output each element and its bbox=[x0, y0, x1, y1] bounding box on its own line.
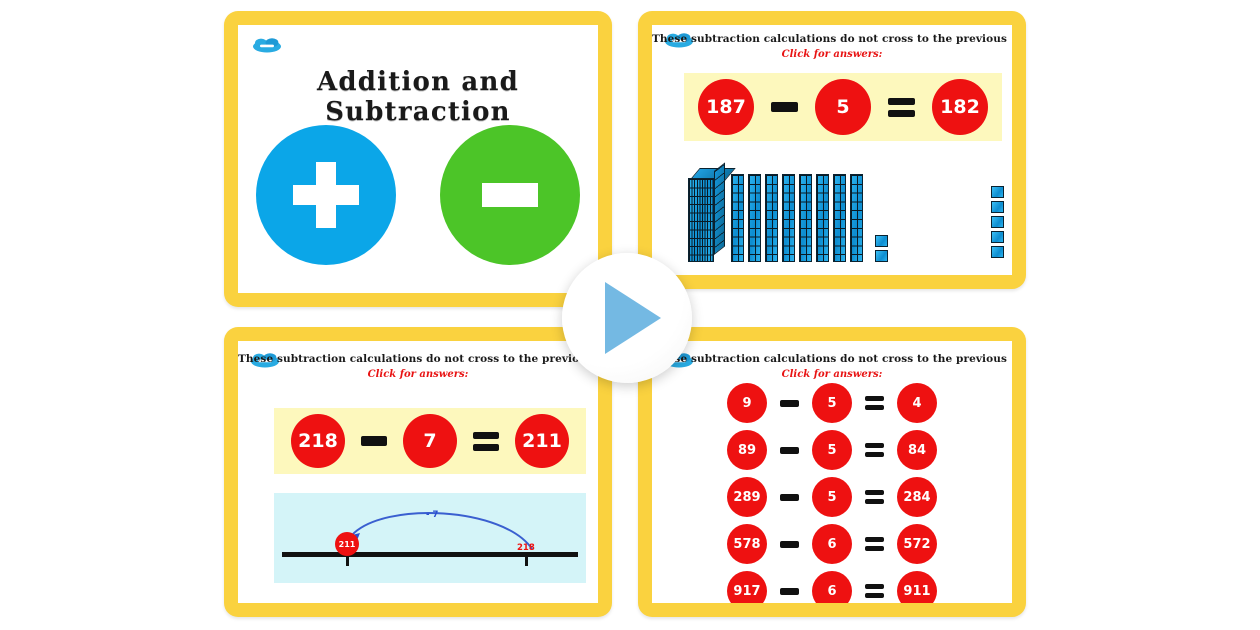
result-bubble: 284 bbox=[897, 477, 937, 517]
calculations-list: 9 5 4 89 5 84 289 5 bbox=[710, 383, 954, 603]
operation-icons-row bbox=[238, 125, 598, 265]
minus-sign-icon bbox=[780, 588, 799, 595]
base-ten-blocks-area bbox=[682, 150, 1012, 262]
minuend-bubble: 9 bbox=[727, 383, 767, 423]
minuend-bubble: 187 bbox=[698, 79, 754, 135]
slide-heading: These subtraction calculations do not cr… bbox=[238, 353, 598, 365]
number-line-panel: - 7 211 218 bbox=[274, 493, 586, 583]
result-bubble: 911 bbox=[897, 571, 937, 603]
jump-arrow-icon bbox=[274, 493, 586, 583]
subtrahend-bubble: 5 bbox=[812, 477, 852, 517]
result-bubble: 84 bbox=[897, 430, 937, 470]
base-ten-subtrahend-group bbox=[983, 186, 1004, 258]
plus-icon bbox=[293, 162, 359, 228]
tens-rod-block bbox=[748, 174, 761, 262]
play-button[interactable] bbox=[562, 253, 692, 383]
number-line-tick bbox=[346, 557, 349, 566]
equation-strip: 187 5 182 bbox=[684, 73, 1002, 141]
calculation-row: 917 6 911 bbox=[710, 571, 954, 603]
slide-subheading: Click for answers: bbox=[652, 49, 1012, 60]
subtraction-circle[interactable] bbox=[440, 125, 580, 265]
minus-sign-icon bbox=[780, 447, 799, 454]
minus-sign-icon bbox=[780, 400, 799, 407]
slide-thumbnail-number-line[interactable]: These subtraction calculations do not cr… bbox=[224, 327, 612, 617]
equals-sign-icon bbox=[865, 396, 884, 410]
one-cube-block bbox=[875, 235, 888, 247]
subtrahend-bubble: 6 bbox=[812, 571, 852, 603]
calculation-row: 289 5 284 bbox=[710, 477, 954, 517]
result-bubble: 182 bbox=[932, 79, 988, 135]
equals-sign-icon bbox=[888, 98, 915, 117]
minus-icon bbox=[482, 183, 538, 207]
equals-sign-icon bbox=[865, 443, 884, 457]
result-bubble: 4 bbox=[897, 383, 937, 423]
equals-sign-icon bbox=[473, 432, 499, 451]
tens-rod-block bbox=[782, 174, 795, 262]
minuend-bubble: 289 bbox=[727, 477, 767, 517]
equals-sign-icon bbox=[865, 584, 884, 598]
tens-rod-block bbox=[799, 174, 812, 262]
one-cube-block bbox=[991, 216, 1004, 228]
one-cube-block bbox=[991, 231, 1004, 243]
ones-cubes-group bbox=[991, 186, 1004, 258]
equals-sign-icon bbox=[865, 490, 884, 504]
subtrahend-bubble: 5 bbox=[812, 430, 852, 470]
preview-stage: Addition and Subtraction bbox=[0, 0, 1260, 630]
one-cube-block bbox=[991, 201, 1004, 213]
calculation-row: 89 5 84 bbox=[710, 430, 954, 470]
subtrahend-bubble: 7 bbox=[403, 414, 457, 468]
tens-rod-block bbox=[850, 174, 863, 262]
slide-thumbnail-title[interactable]: Addition and Subtraction bbox=[224, 11, 612, 307]
equation-strip: 218 7 211 bbox=[274, 408, 586, 474]
slide-canvas: Addition and Subtraction bbox=[238, 25, 598, 293]
minuend-bubble: 218 bbox=[291, 414, 345, 468]
calculation-row: 9 5 4 bbox=[710, 383, 954, 423]
slide-heading-block: These subtraction calculations do not cr… bbox=[652, 353, 1012, 380]
slide-heading-block: These subtraction calculations do not cr… bbox=[238, 353, 598, 380]
subtrahend-bubble: 5 bbox=[812, 383, 852, 423]
ones-cubes-group bbox=[875, 235, 888, 262]
equals-sign-icon bbox=[865, 537, 884, 551]
number-line-end-bubble: 211 bbox=[335, 532, 359, 556]
slide-heading: These subtraction calculations do not cr… bbox=[652, 353, 1012, 365]
slide-thumbnail-base-ten[interactable]: These subtraction calculations do not cr… bbox=[638, 11, 1026, 289]
one-cube-block bbox=[875, 250, 888, 262]
minus-sign-icon bbox=[361, 436, 387, 446]
minuend-bubble: 89 bbox=[727, 430, 767, 470]
slide-canvas: These subtraction calculations do not cr… bbox=[652, 341, 1012, 603]
subtrahend-bubble: 5 bbox=[815, 79, 871, 135]
result-bubble: 211 bbox=[515, 414, 569, 468]
jump-label: - 7 bbox=[426, 510, 438, 520]
calculation-row: 578 6 572 bbox=[710, 524, 954, 564]
addition-circle[interactable] bbox=[256, 125, 396, 265]
minus-sign-icon bbox=[780, 494, 799, 501]
tens-rod-block bbox=[765, 174, 778, 262]
minuend-bubble: 578 bbox=[727, 524, 767, 564]
hundred-slab-block bbox=[688, 168, 724, 262]
minus-sign-icon bbox=[771, 102, 798, 112]
play-triangle-icon bbox=[605, 282, 661, 354]
minus-sign-icon bbox=[780, 541, 799, 548]
minuend-bubble: 917 bbox=[727, 571, 767, 603]
base-ten-minuend-group bbox=[688, 168, 888, 262]
subtrahend-bubble: 6 bbox=[812, 524, 852, 564]
tens-rod-block bbox=[731, 174, 744, 262]
slide-canvas: These subtraction calculations do not cr… bbox=[238, 341, 598, 603]
slide-heading-block: These subtraction calculations do not cr… bbox=[652, 33, 1012, 60]
slide-thumbnail-answers[interactable]: These subtraction calculations do not cr… bbox=[638, 327, 1026, 617]
slide-subheading: Click for answers: bbox=[238, 369, 598, 380]
tens-rod-block bbox=[833, 174, 846, 262]
slide-subheading: Click for answers: bbox=[652, 369, 1012, 380]
result-bubble: 572 bbox=[897, 524, 937, 564]
tens-rod-block bbox=[816, 174, 829, 262]
slide-canvas: These subtraction calculations do not cr… bbox=[652, 25, 1012, 275]
one-cube-block bbox=[991, 186, 1004, 198]
number-line-start-label: 218 bbox=[517, 543, 535, 553]
twinkl-cloud-logo bbox=[252, 37, 282, 54]
one-cube-block bbox=[991, 246, 1004, 258]
slide-heading: These subtraction calculations do not cr… bbox=[652, 33, 1012, 45]
page-title: Addition and Subtraction bbox=[238, 67, 598, 127]
number-line-tick bbox=[525, 557, 528, 566]
